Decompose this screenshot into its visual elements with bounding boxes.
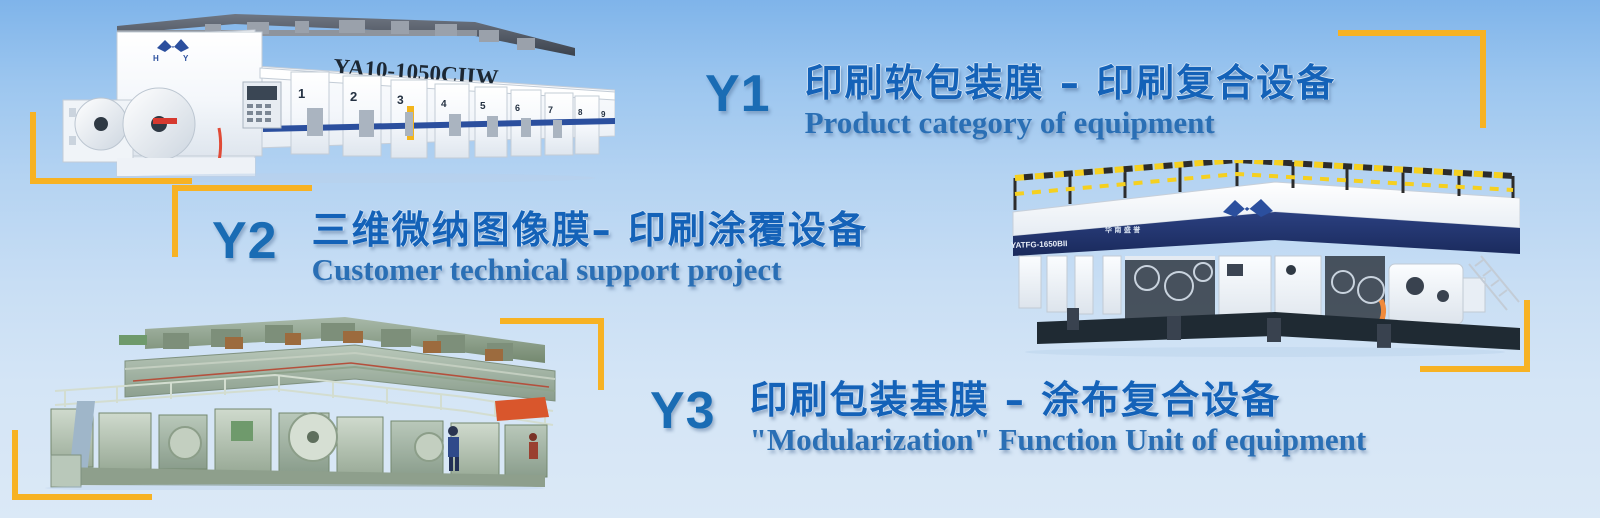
entry-y3-subtitle-en: "Modularization" Function Unit of equipm… — [750, 424, 1367, 455]
entry-y3-code: Y3 — [650, 385, 716, 437]
svg-text:华 南 盛 誉: 华 南 盛 誉 — [1105, 225, 1141, 234]
promo-banner: H Y YA10-1050CIIW 1 2 3 — [0, 0, 1600, 518]
svg-text:3: 3 — [397, 93, 404, 107]
entry-y2-title-cn: 三维微纳图像膜– 印刷涂覆设备 — [312, 211, 868, 249]
machine-image-rotogravure-printing-press: H Y YA10-1050CIIW 1 2 3 — [55, 8, 615, 183]
svg-text:4: 4 — [441, 99, 447, 110]
svg-text:9: 9 — [601, 110, 606, 119]
svg-text:7: 7 — [548, 105, 553, 115]
svg-text:H: H — [153, 54, 159, 63]
svg-text:5: 5 — [480, 101, 486, 112]
entry-y3: Y3 印刷包装基膜 – 涂布复合设备 "Modularization" Func… — [650, 385, 1366, 455]
entry-y1-code: Y1 — [705, 68, 771, 120]
entry-y1: Y1 印刷软包装膜 – 印刷复合设备 Product category of e… — [705, 68, 1336, 138]
svg-text:6: 6 — [515, 103, 520, 113]
svg-text:2: 2 — [350, 89, 357, 104]
entry-y3-title-cn: 印刷包装基膜 – 涂布复合设备 — [750, 381, 1367, 419]
machine-image-coating-compound-production-line — [25, 305, 570, 490]
svg-text:8: 8 — [578, 108, 583, 117]
entry-y2: Y2 三维微纳图像膜– 印刷涂覆设备 Customer technical su… — [212, 215, 868, 285]
entry-y2-code: Y2 — [212, 215, 278, 267]
entry-y1-title-cn: 印刷软包装膜 – 印刷复合设备 — [805, 64, 1336, 102]
entry-y2-subtitle-en: Customer technical support project — [312, 254, 868, 285]
entry-y1-subtitle-en: Product category of equipment — [805, 107, 1336, 138]
svg-text:1: 1 — [298, 86, 305, 101]
bracket-y1-top-right — [1338, 30, 1486, 128]
machine-image-dry-laminating-coating-machine: 华 南 盛 誉 YATFG-1650BII — [975, 160, 1520, 360]
svg-text:Y: Y — [183, 54, 189, 63]
